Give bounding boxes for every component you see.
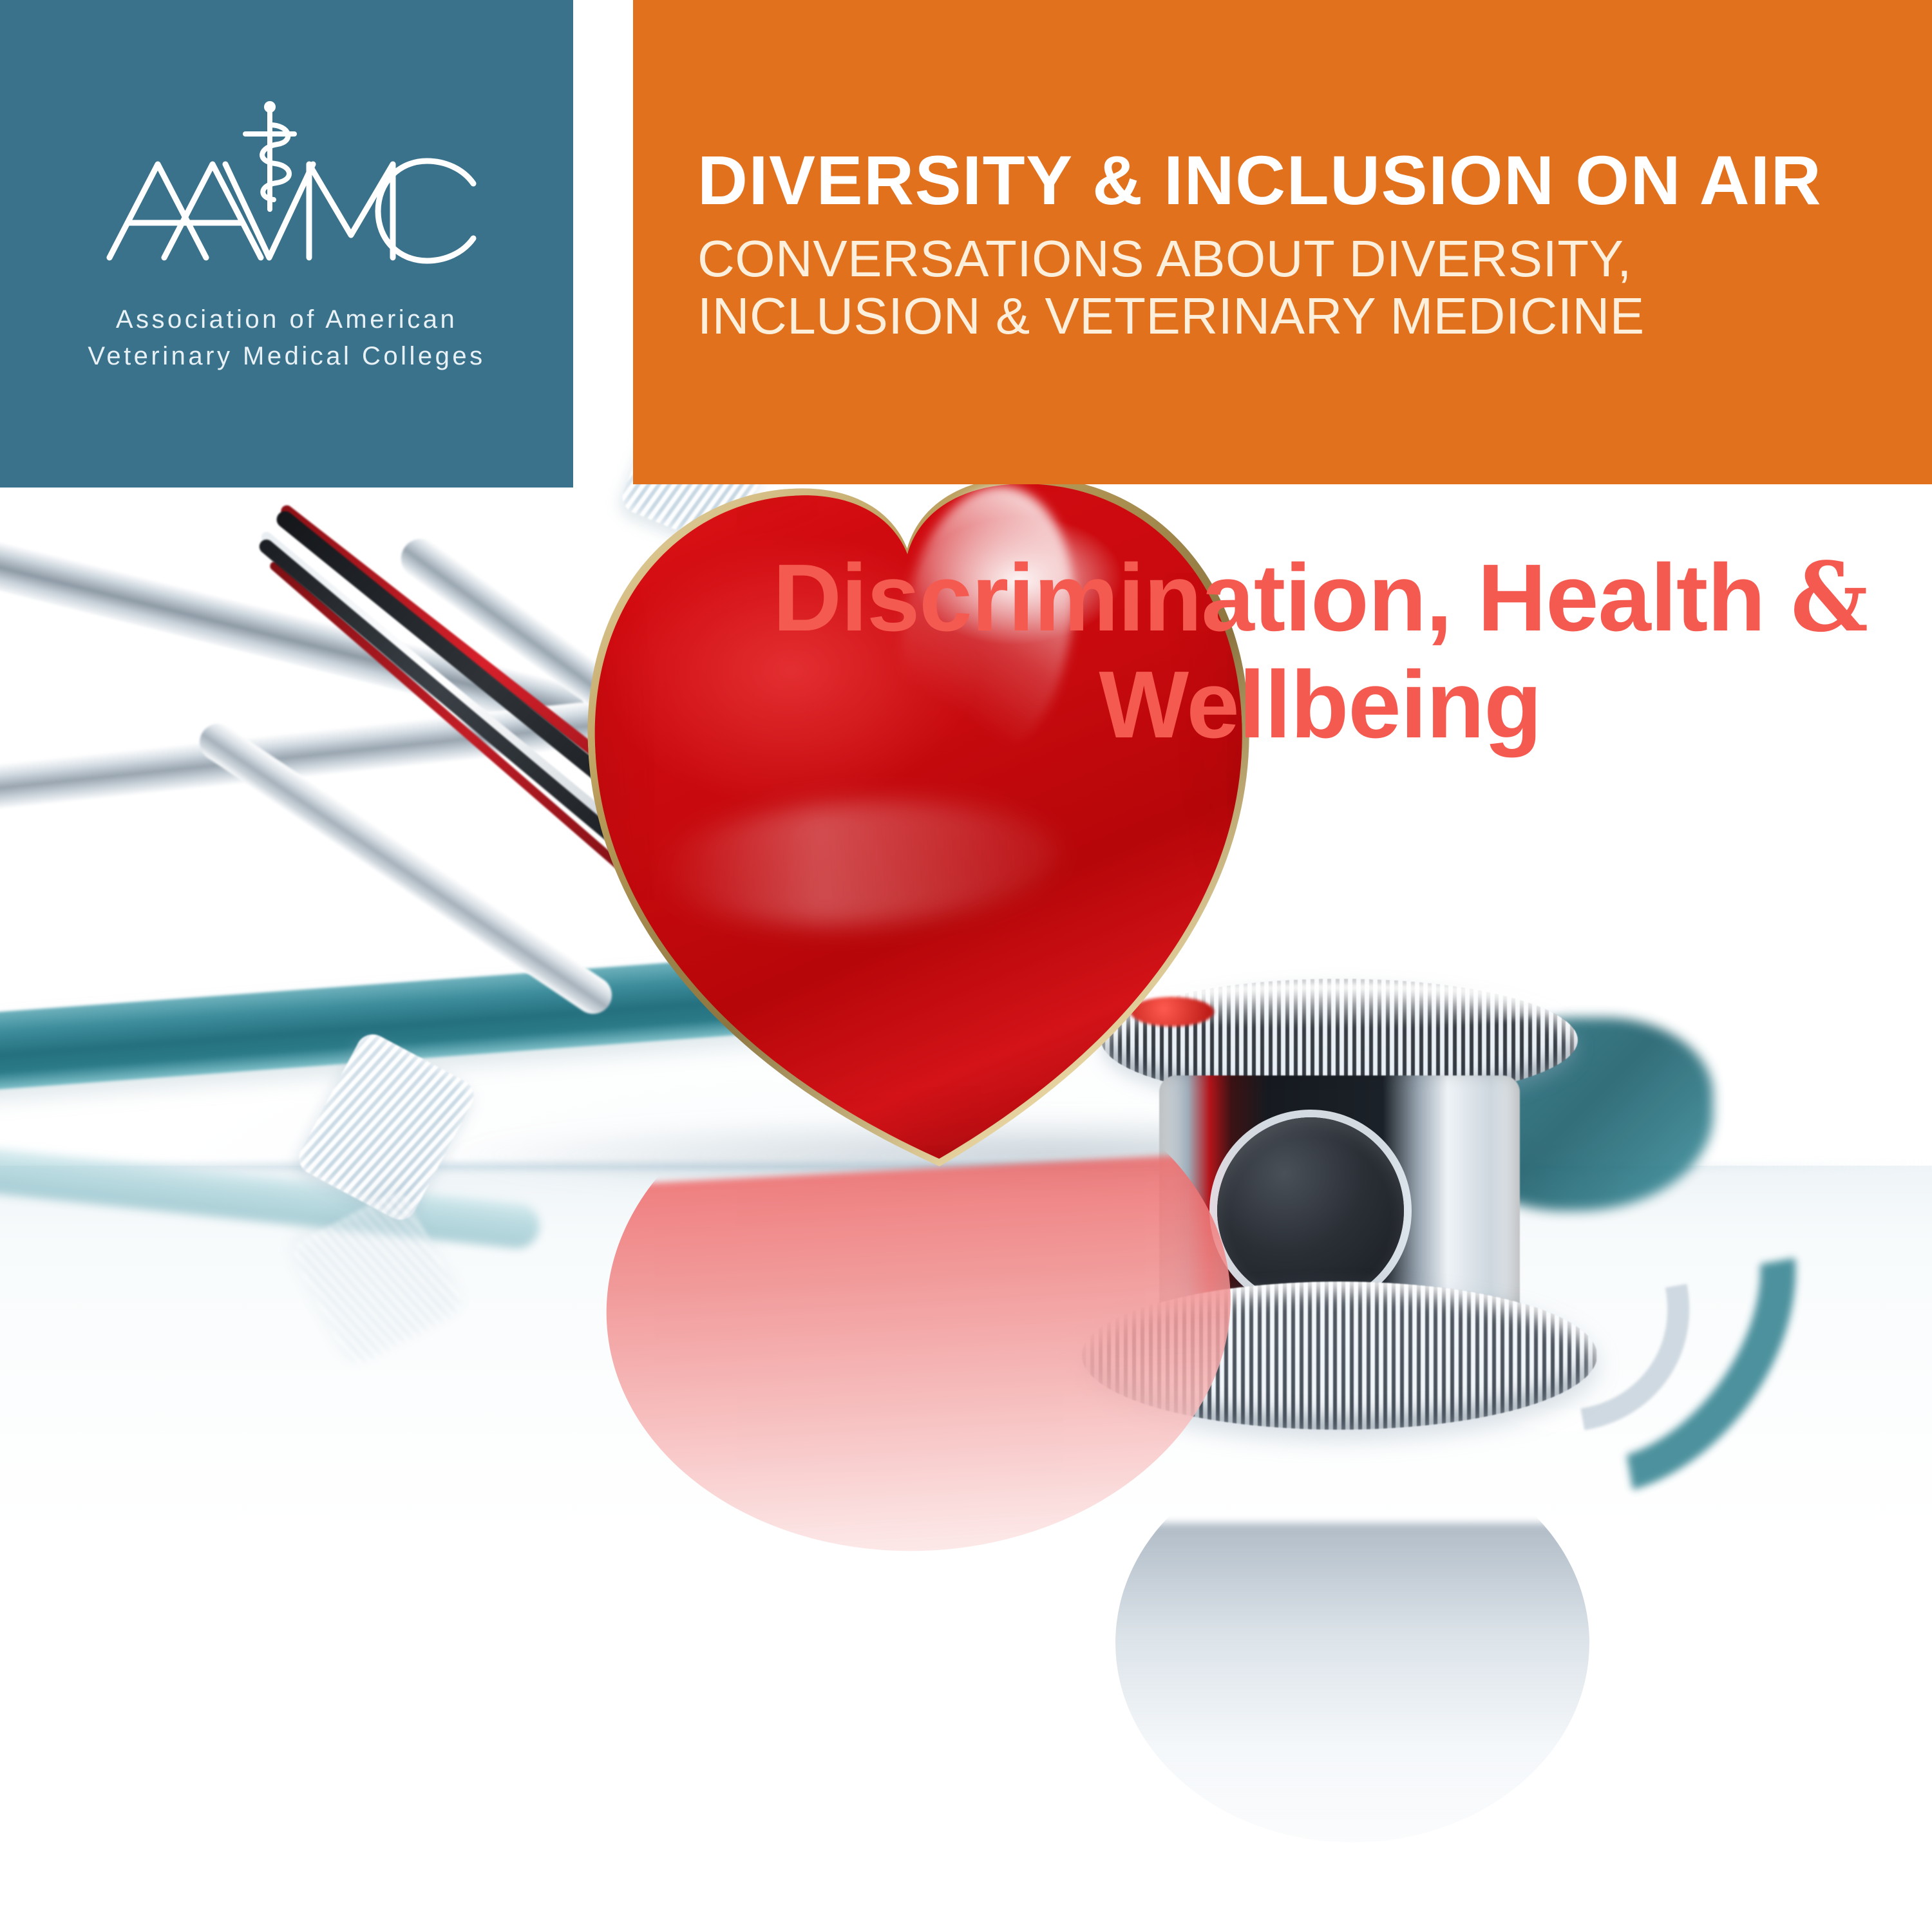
- aavmc-logo-mark: [87, 97, 486, 290]
- show-subtitle-line2: INCLUSION & VETERINARY MEDICINE: [697, 287, 1831, 345]
- episode-title: Discrimination, Health & Wellbeing: [741, 544, 1900, 759]
- aavmc-brand-panel: Association of American Veterinary Medic…: [0, 0, 573, 488]
- show-subtitle-line1: CONVERSATIONS ABOUT DIVERSITY,: [697, 230, 1831, 288]
- aavmc-tagline: Association of American Veterinary Medic…: [0, 301, 573, 375]
- episode-title-line1: Discrimination, Health: [773, 545, 1765, 651]
- podcast-cover-art: Association of American Veterinary Medic…: [0, 0, 1932, 1932]
- aavmc-logo: Association of American Veterinary Medic…: [0, 97, 573, 375]
- aavmc-tagline-line1: Association of American: [0, 301, 573, 338]
- show-banner-text: DIVERSITY & INCLUSION ON AIR CONVERSATIO…: [697, 143, 1831, 345]
- episode-title-ampersand: &: [1791, 541, 1868, 653]
- show-subtitle: CONVERSATIONS ABOUT DIVERSITY, INCLUSION…: [697, 230, 1831, 345]
- show-title: DIVERSITY & INCLUSION ON AIR: [697, 143, 1831, 218]
- aavmc-tagline-line2: Veterinary Medical Colleges: [0, 338, 573, 375]
- caduceus-icon: [245, 101, 294, 209]
- episode-title-line2: Wellbeing: [1099, 652, 1541, 758]
